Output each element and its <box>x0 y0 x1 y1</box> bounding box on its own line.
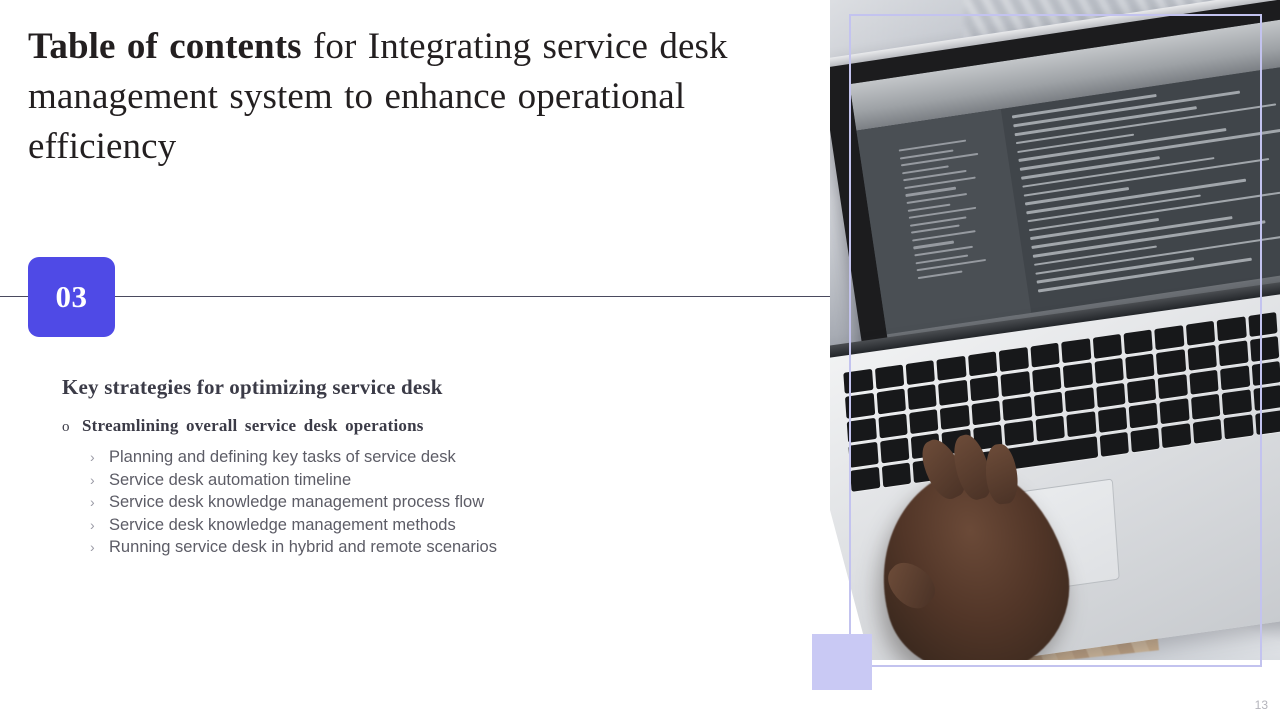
decorative-square <box>812 634 872 690</box>
ide-code-lines <box>1012 69 1280 303</box>
toc-list: › Planning and defining key tasks of ser… <box>62 446 802 559</box>
chevron-right-icon: › <box>90 536 109 559</box>
list-item-label: Service desk knowledge management method… <box>109 514 802 537</box>
circle-bullet-icon: o <box>62 420 82 435</box>
list-item[interactable]: › Service desk knowledge management proc… <box>90 491 802 514</box>
list-item[interactable]: › Running service desk in hybrid and rem… <box>90 536 802 559</box>
chevron-right-icon: › <box>90 491 109 514</box>
list-item[interactable]: › Planning and defining key tasks of ser… <box>90 446 802 469</box>
section-number-badge: 03 <box>28 257 115 337</box>
list-item-label: Planning and defining key tasks of servi… <box>109 446 802 469</box>
section-heading: Key strategies for optimizing service de… <box>62 375 802 400</box>
section-number-label: 03 <box>56 279 88 315</box>
page-title-bold: Table of contents <box>28 26 302 67</box>
list-item-label: Running service desk in hybrid and remot… <box>109 536 802 559</box>
slide-canvas: Table of contents for Integrating servic… <box>0 0 1280 720</box>
chevron-right-icon: › <box>90 514 109 537</box>
content-block: Key strategies for optimizing service de… <box>62 375 802 559</box>
sub-heading-label: Streamlining overall service desk operat… <box>82 416 424 436</box>
list-item[interactable]: › Service desk automation timeline <box>90 469 802 492</box>
section-divider <box>0 296 834 297</box>
page-number: 13 <box>1255 698 1268 712</box>
page-title: Table of contents for Integrating servic… <box>28 22 818 172</box>
list-item-label: Service desk knowledge management proces… <box>109 491 802 514</box>
chevron-right-icon: › <box>90 446 109 469</box>
sub-heading: o Streamlining overall service desk oper… <box>62 416 802 436</box>
list-item[interactable]: › Service desk knowledge management meth… <box>90 514 802 537</box>
laptop-photo <box>830 0 1280 660</box>
chevron-right-icon: › <box>90 469 109 492</box>
list-item-label: Service desk automation timeline <box>109 469 802 492</box>
